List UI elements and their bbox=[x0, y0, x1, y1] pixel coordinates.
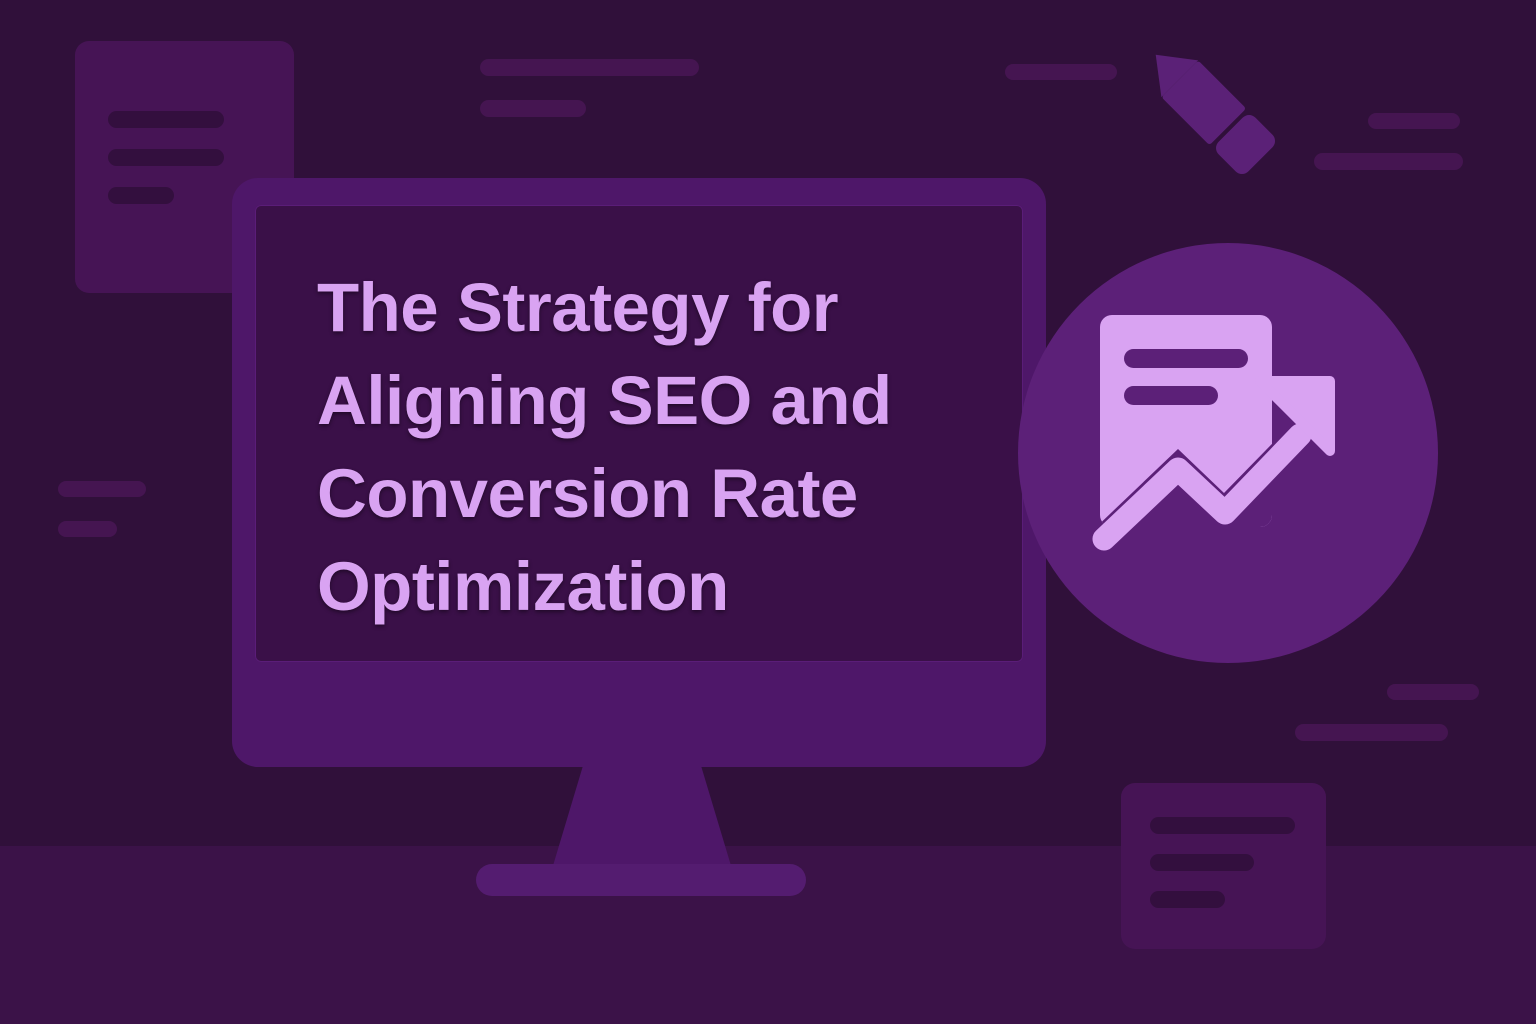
monitor-stand-base bbox=[476, 864, 806, 896]
document-card-line bbox=[1150, 817, 1295, 834]
page-title-line: Aligning SEO and bbox=[317, 354, 997, 447]
pencil-icon bbox=[1118, 22, 1308, 202]
document-card-bottom-right bbox=[1121, 783, 1326, 949]
page-title-line: The Strategy for bbox=[317, 261, 997, 354]
page-title-line: Conversion Rate bbox=[317, 447, 997, 540]
line-top-center-short bbox=[480, 100, 586, 117]
line-right-lower-short bbox=[1387, 684, 1479, 700]
line-right-upper-long bbox=[1314, 153, 1463, 170]
line-left-mid-long bbox=[58, 481, 146, 497]
monitor-stand-neck bbox=[552, 767, 732, 869]
line-top-right bbox=[1005, 64, 1117, 80]
document-card-line bbox=[108, 149, 224, 166]
hero-banner: The Strategy for Aligning SEO and Conver… bbox=[0, 0, 1536, 1024]
line-top-center-long bbox=[480, 59, 699, 76]
desktop-monitor-illustration: The Strategy for Aligning SEO and Conver… bbox=[232, 178, 1046, 767]
monitor-screen: The Strategy for Aligning SEO and Conver… bbox=[255, 205, 1023, 662]
analytics-report-badge bbox=[1018, 243, 1438, 663]
report-growth-chart-icon bbox=[1078, 301, 1378, 601]
line-right-upper-short bbox=[1368, 113, 1460, 129]
document-card-line bbox=[1150, 854, 1254, 871]
document-card-line bbox=[1150, 891, 1225, 908]
page-title-line: Optimization bbox=[317, 540, 997, 633]
document-card-line bbox=[108, 111, 224, 128]
page-title: The Strategy for Aligning SEO and Conver… bbox=[317, 261, 997, 633]
line-left-mid-short bbox=[58, 521, 117, 537]
document-card-line bbox=[108, 187, 174, 204]
line-right-lower-long bbox=[1295, 724, 1448, 741]
